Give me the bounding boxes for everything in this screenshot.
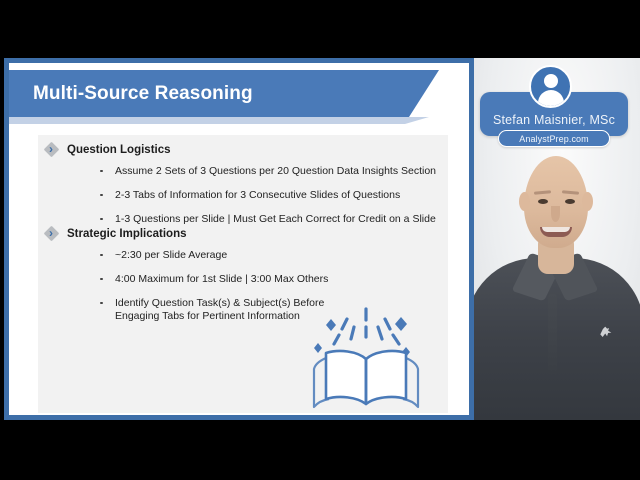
presenter-ear-right bbox=[582, 192, 593, 211]
presenter-ear-left bbox=[519, 192, 530, 211]
section-heading-row: › Strategic Implications bbox=[38, 227, 448, 240]
presenter-eye-left bbox=[538, 199, 548, 204]
presenter-eye-right bbox=[565, 199, 575, 204]
bullet-text: 4:00 Maximum for 1st Slide | 3:00 Max Ot… bbox=[115, 273, 328, 285]
list-item: 1-3 Questions per Slide | Must Get Each … bbox=[94, 213, 448, 226]
list-item: 4:00 Maximum for 1st Slide | 3:00 Max Ot… bbox=[94, 273, 448, 286]
bullet-text: Assume 2 Sets of 3 Questions per 20 Ques… bbox=[115, 165, 436, 177]
brand-badge: AnalystPrep.com bbox=[498, 130, 610, 147]
letterbox-right-top bbox=[468, 0, 640, 58]
presenter-nose bbox=[551, 206, 560, 222]
page-title: Multi-Source Reasoning bbox=[33, 83, 413, 105]
bullet-list: Assume 2 Sets of 3 Questions per 20 Ques… bbox=[38, 165, 448, 226]
chevron-diamond-icon: › bbox=[46, 227, 61, 240]
list-item: 2-3 Tabs of Information for 3 Consecutiv… bbox=[94, 189, 448, 202]
slide-canvas: Multi-Source Reasoning › Question Logist… bbox=[9, 63, 469, 415]
bullet-text: Identify Question Task(s) & Subject(s) B… bbox=[115, 297, 324, 322]
slide-section-question-logistics: › Question Logistics Assume 2 Sets of 3 … bbox=[38, 143, 448, 226]
bullet-text: 1-3 Questions per Slide | Must Get Each … bbox=[115, 213, 436, 225]
presenter-video-panel: Stefan Maisnier, MSc AnalystPrep.com bbox=[468, 58, 640, 420]
bullet-text: 2-3 Tabs of Information for 3 Consecutiv… bbox=[115, 189, 400, 201]
chevron-diamond-icon: › bbox=[46, 143, 61, 156]
list-item: Assume 2 Sets of 3 Questions per 20 Ques… bbox=[94, 165, 448, 178]
bullet-text: ~2:30 per Slide Average bbox=[115, 249, 227, 261]
letterbox-bottom bbox=[0, 420, 640, 480]
avatar-body-shape bbox=[538, 90, 564, 108]
section-heading-row: › Question Logistics bbox=[38, 143, 448, 156]
avatar-head-shape bbox=[544, 74, 558, 88]
open-book-with-sparkles-icon bbox=[309, 303, 424, 413]
slide-frame: Multi-Source Reasoning › Question Logist… bbox=[4, 58, 474, 420]
slide-title-underline bbox=[9, 117, 429, 124]
video-player-stage: Stefan Maisnier, MSc AnalystPrep.com Mul… bbox=[0, 0, 640, 480]
section-heading-label: Strategic Implications bbox=[67, 228, 187, 240]
brand-badge-label: AnalystPrep.com bbox=[519, 134, 589, 144]
section-heading-label: Question Logistics bbox=[67, 144, 171, 156]
presenter-teeth bbox=[542, 227, 570, 232]
presenter-shirt-placket bbox=[548, 294, 557, 374]
person-avatar-icon bbox=[529, 65, 572, 108]
list-item: ~2:30 per Slide Average bbox=[94, 249, 448, 262]
